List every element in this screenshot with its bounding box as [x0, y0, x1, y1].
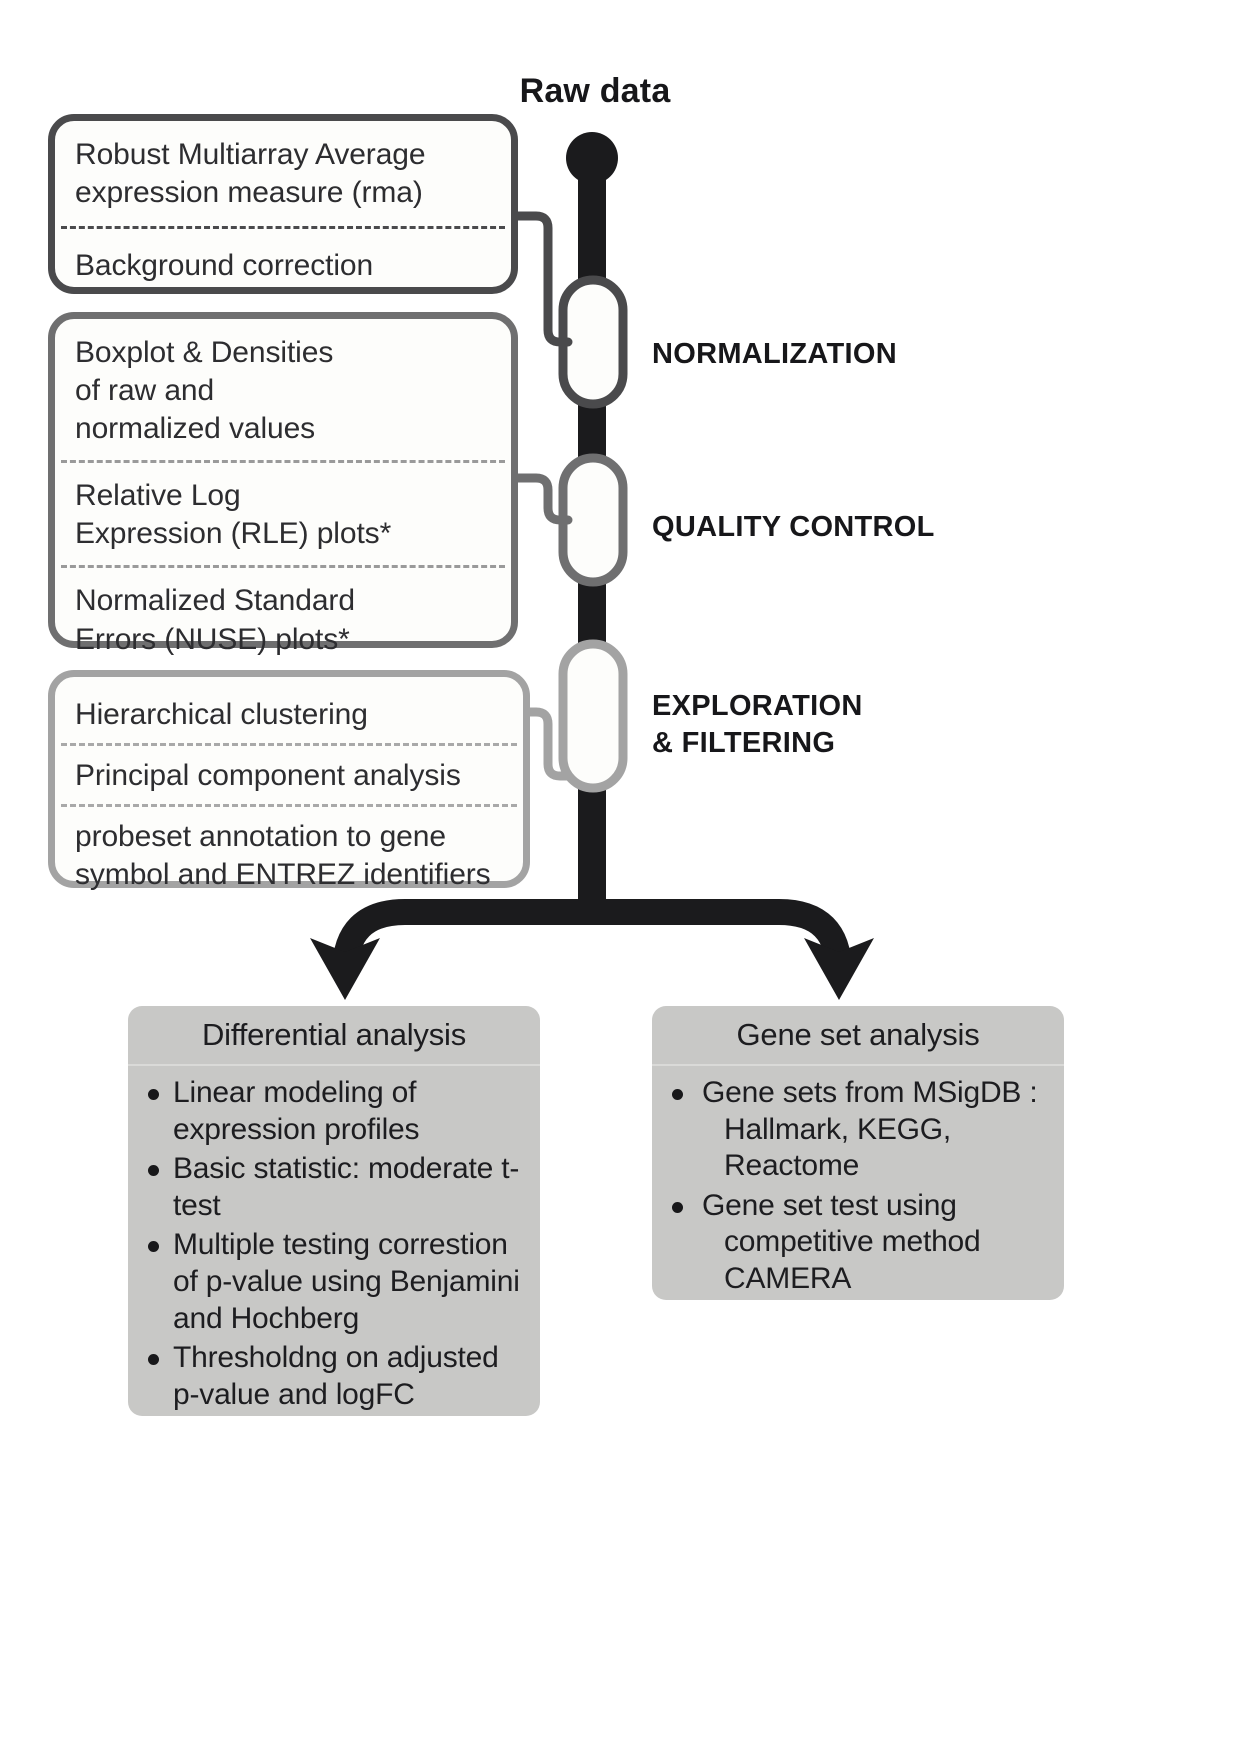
bullet-line1: Gene sets from MSigDB : — [702, 1076, 1038, 1109]
stage-item-nuse-line2: Errors (NUSE) plots* — [75, 621, 491, 659]
stage-card-quality-control[interactable]: Boxplot & Densities of raw and normalize… — [48, 312, 518, 648]
stage-item-rma-line2: expression measure (rma) — [75, 174, 491, 212]
stage-node-exploration — [518, 644, 623, 788]
bullet-line2: p-value and logFC — [173, 1378, 415, 1411]
bullet-line1: Thresholdng on adjusted — [173, 1341, 499, 1374]
bullet-line2: of p-value using Benjamini — [173, 1265, 520, 1298]
stage-label-normalization: NORMALIZATION — [652, 336, 897, 373]
bullet-icon — [672, 1202, 683, 1213]
stage-item-boxplot-densities: Boxplot & Densities of raw and normalize… — [61, 328, 505, 460]
stage-item-background-correction-line1: Background correction — [75, 247, 491, 285]
differential-bullet-list: Linear modeling of expression profiles B… — [128, 1066, 540, 1416]
stage-label-quality-control: QUALITY CONTROL — [652, 509, 935, 546]
bullet-line1: Gene set test using — [702, 1189, 957, 1222]
bullet-line1: Linear modeling of — [173, 1076, 416, 1109]
stage-item-probeset-annotation: probeset annotation to gene symbol and E… — [61, 804, 517, 898]
stage-item-rma: Robust Multiarray Average expression mea… — [61, 130, 505, 226]
stage-label-exploration-line1: EXPLORATION — [652, 688, 863, 725]
stage-label-exploration-filtering: EXPLORATION & FILTERING — [652, 688, 863, 762]
stage-card-normalization[interactable]: Robust Multiarray Average expression mea… — [48, 114, 518, 294]
stage-item-rle-plots: Relative Log Expression (RLE) plots* — [61, 460, 505, 565]
bullet-line3: Reactome — [702, 1148, 1050, 1185]
stage-item-hierarchical-clustering-line1: Hierarchical clustering — [75, 696, 503, 734]
bullet-line2: expression profiles — [173, 1113, 419, 1146]
list-item: Basic statistic: moderate t-test — [142, 1151, 526, 1224]
stage-item-nuse-plots: Normalized Standard Errors (NUSE) plots* — [61, 565, 505, 662]
branch-arrows — [310, 912, 874, 1000]
stage-card-exploration-filtering[interactable]: Hierarchical clustering Principal compon… — [48, 670, 530, 888]
bullet-icon — [672, 1089, 683, 1100]
list-item: Linear modeling of expression profiles — [142, 1075, 526, 1148]
stage-node-quality — [518, 458, 623, 582]
stage-item-probeset-annotation-line1: probeset annotation to gene — [75, 818, 503, 856]
bullet-line3: CAMERA — [702, 1261, 1050, 1298]
stage-item-rle-line2: Expression (RLE) plots* — [75, 515, 491, 553]
bullet-line1: Multiple testing correstion — [173, 1228, 508, 1261]
panel-title-differential: Differential analysis — [128, 1006, 540, 1066]
bullet-line2: Hallmark, KEGG, — [702, 1112, 1050, 1149]
stage-item-rma-line1: Robust Multiarray Average — [75, 136, 491, 174]
stage-item-boxplot-line3: normalized values — [75, 410, 491, 448]
stage-item-pca-line1: Principal component analysis — [75, 757, 503, 795]
bullet-icon — [148, 1089, 159, 1100]
main-spine — [566, 132, 618, 912]
stage-item-boxplot-line2: of raw and — [75, 372, 491, 410]
bullet-line2: competitive method — [702, 1224, 1050, 1261]
panel-title-geneset: Gene set analysis — [652, 1006, 1064, 1066]
stage-item-nuse-line1: Normalized Standard — [75, 582, 491, 620]
geneset-bullet-list: Gene sets from MSigDB : Hallmark, KEGG, … — [652, 1066, 1064, 1300]
bullet-line3: and Hochberg — [173, 1302, 359, 1335]
stage-node-normalization — [518, 216, 623, 404]
list-item: Multiple testing correstion of p-value u… — [142, 1227, 526, 1337]
list-item: Thresholdng on adjusted p-value and logF… — [142, 1340, 526, 1413]
result-panel-gene-set-analysis[interactable]: Gene set analysis Gene sets from MSigDB … — [652, 1006, 1064, 1300]
result-panel-differential-analysis[interactable]: Differential analysis Linear modeling of… — [128, 1006, 540, 1416]
stage-label-exploration-line2: & FILTERING — [652, 725, 863, 762]
list-item: Gene sets from MSigDB : Hallmark, KEGG, … — [666, 1075, 1050, 1185]
page-title: Raw data — [435, 72, 755, 111]
bullet-icon — [148, 1354, 159, 1365]
stage-item-pca: Principal component analysis — [61, 743, 517, 804]
bullet-line1: Basic statistic: moderate — [173, 1152, 493, 1185]
bullet-icon — [148, 1165, 159, 1176]
stage-item-probeset-annotation-line2: symbol and ENTREZ identifiers — [75, 856, 503, 894]
list-item: Gene set test using competitive method C… — [666, 1188, 1050, 1298]
bullet-icon — [148, 1241, 159, 1252]
stage-item-boxplot-line1: Boxplot & Densities — [75, 334, 491, 372]
stage-item-background-correction: Background correction — [61, 226, 505, 289]
diagram-canvas: Raw data Robust Multiarray Average expre… — [0, 0, 1240, 1753]
stage-item-rle-line1: Relative Log — [75, 477, 491, 515]
stage-item-hierarchical-clustering: Hierarchical clustering — [61, 686, 517, 743]
